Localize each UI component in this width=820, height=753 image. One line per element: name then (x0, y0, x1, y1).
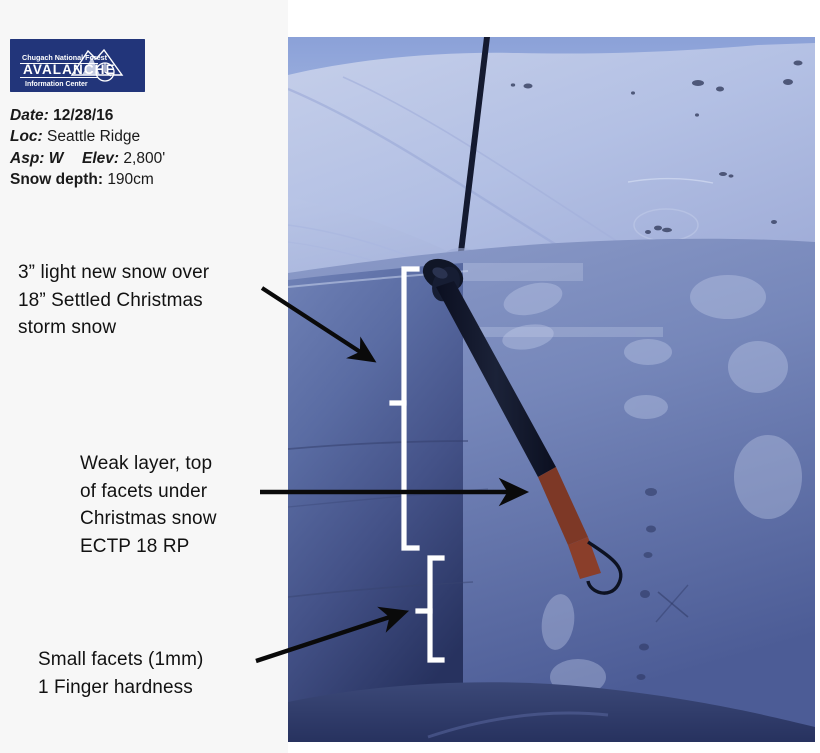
logo-line1: Chugach National Forest (22, 53, 108, 62)
logo-graphic: Chugach National Forest AVALANCHE Inform… (10, 39, 145, 92)
snow-pit-photo (288, 37, 815, 742)
loc-label: Loc: (10, 128, 43, 145)
date-label: Date: (10, 107, 49, 124)
photo-graphic (288, 37, 815, 742)
pit-left-wall (288, 263, 463, 742)
callout-weak-layer: Weak layer, top of facets under Christma… (80, 450, 280, 561)
elev-label: Elev: (82, 150, 119, 167)
info-panel: Chugach National Forest AVALANCHE Inform… (0, 0, 288, 753)
observation-metadata: Date: 12/28/16 Loc: Seattle Ridge Asp: W… (10, 105, 275, 191)
meta-row-date: Date: 12/28/16 (10, 105, 275, 126)
callout-small-facets: Small facets (1mm) 1 Finger hardness (38, 646, 278, 701)
elev-value: 2,800' (123, 150, 165, 167)
avalanche-center-logo: Chugach National Forest AVALANCHE Inform… (10, 39, 145, 92)
meta-row-aspect-elevation: Asp: W Elev: 2,800' (10, 148, 275, 169)
asp-label: Asp: (10, 150, 44, 167)
snow-depth-label: Snow depth: (10, 171, 103, 188)
asp-value: W (49, 150, 64, 167)
callout-top-layers: 3” light new snow over 18” Settled Chris… (18, 259, 273, 342)
logo-line2: AVALANCHE (23, 62, 116, 77)
meta-row-snow-depth: Snow depth: 190cm (10, 169, 275, 190)
meta-row-location: Loc: Seattle Ridge (10, 126, 275, 147)
loc-value: Seattle Ridge (47, 128, 140, 145)
logo-line3: Information Center (25, 81, 88, 88)
snow-depth-value: 190cm (107, 171, 154, 188)
date-value: 12/28/16 (53, 107, 113, 124)
